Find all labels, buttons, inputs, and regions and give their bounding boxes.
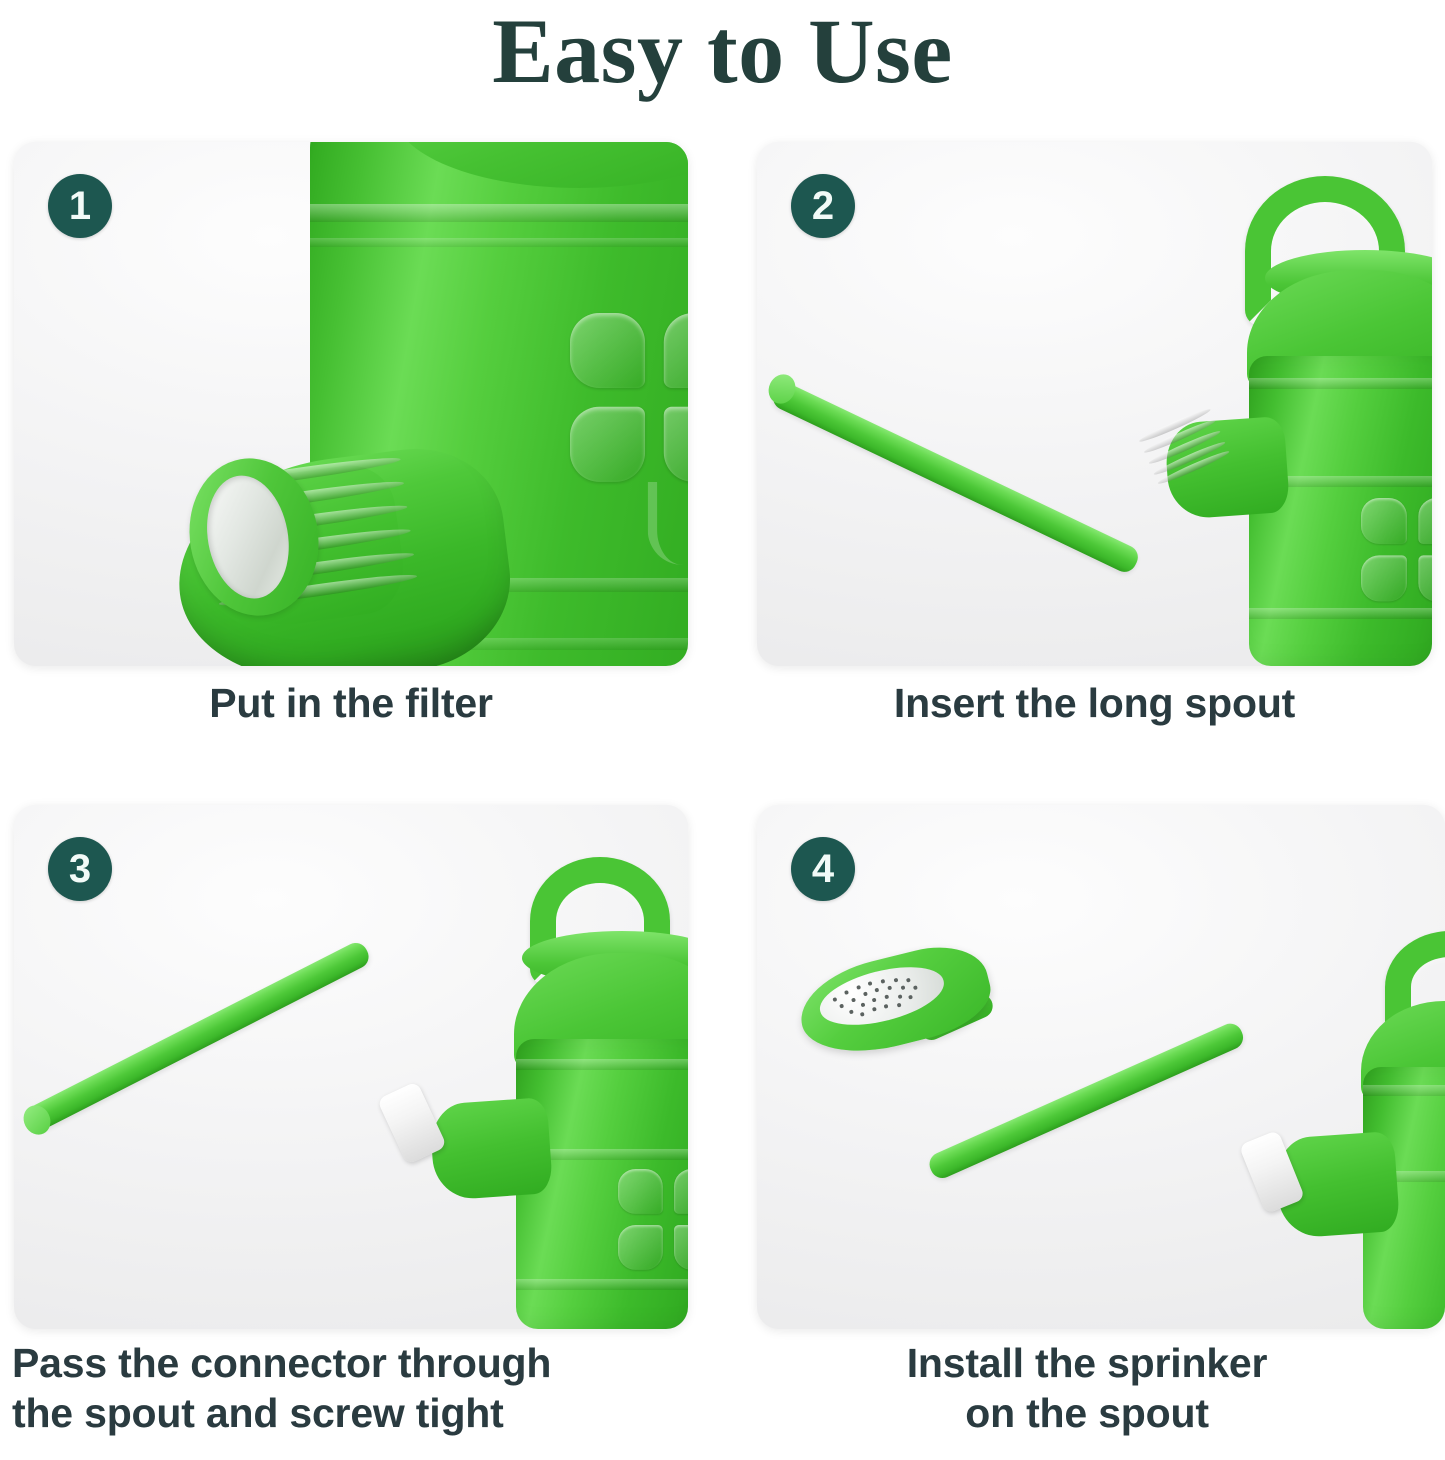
step-badge-2: 2: [791, 174, 855, 238]
clover-emboss-icon: [1361, 498, 1432, 603]
can-neck-cone: [429, 1097, 553, 1201]
page-title: Easy to Use: [0, 2, 1445, 101]
can-top-cap: [394, 142, 688, 188]
step-panel-3: 3: [14, 805, 688, 1329]
can-band-1: [1363, 1085, 1445, 1096]
clover-stem: [648, 482, 683, 565]
step-caption-4: Install the sprinker on the spout: [757, 1338, 1417, 1438]
step-1-image: 1: [14, 142, 688, 666]
step-2-image: 2: [757, 142, 1432, 666]
step-panel-2: 2: [757, 142, 1432, 666]
step-badge-4: 4: [791, 837, 855, 901]
clover-emboss-icon: [618, 1169, 688, 1271]
watering-can: [757, 142, 1432, 666]
clover-emboss-icon: [570, 313, 688, 485]
step-4-image: 4: [757, 805, 1445, 1329]
step-panel-1: 1: [14, 142, 688, 666]
step-caption-3: Pass the connector through the spout and…: [12, 1338, 712, 1438]
step-badge-3: 3: [48, 837, 112, 901]
step-panel-4: 4: [757, 805, 1445, 1329]
can-rim-lower: [310, 238, 688, 247]
can-band-3: [516, 1279, 688, 1290]
step-caption-1: Put in the filter: [14, 678, 688, 728]
watering-can: [757, 805, 1445, 1329]
step-caption-2: Insert the long spout: [757, 678, 1432, 728]
step-3-image: 3: [14, 805, 688, 1329]
can-rim-upper: [310, 204, 688, 222]
step-badge-1: 1: [48, 174, 112, 238]
can-band-1: [1249, 378, 1432, 389]
infographic-page: Easy to Use 1: [0, 0, 1445, 1460]
can-band-3: [1249, 608, 1432, 619]
filter-disc: [198, 469, 298, 605]
can-band-1: [516, 1059, 688, 1070]
